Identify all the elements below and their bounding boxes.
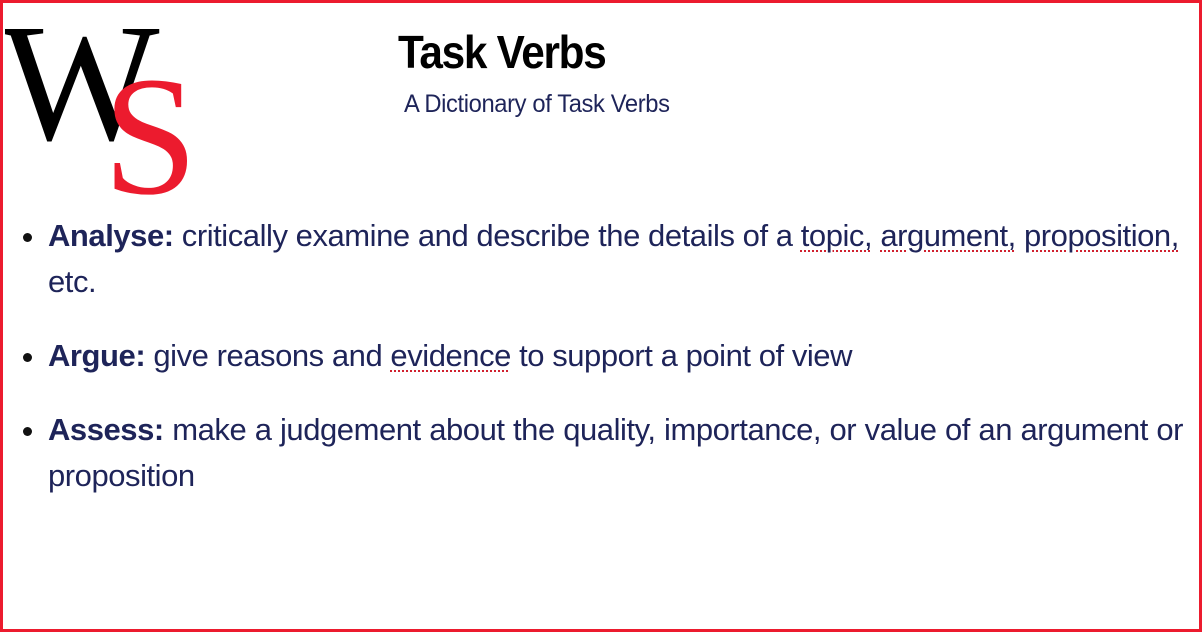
list-item: Argue: give reasons and evidence to supp… [15, 333, 1183, 379]
verb-definition: critically examine and describe the deta… [48, 218, 1179, 299]
misspelled-word: argument, [880, 218, 1016, 253]
list-item: Assess: make a judgement about the quali… [15, 407, 1183, 499]
verb-definition: give reasons and evidence to support a p… [145, 338, 852, 373]
task-verb-list: Analyse: critically examine and describe… [15, 213, 1183, 527]
bullet-icon [23, 353, 32, 362]
svg-text:S: S [103, 42, 195, 196]
title-block: Task Verbs A Dictionary of Task Verbs [398, 27, 684, 119]
slide-canvas: W S Task Verbs A Dictionary of Task Verb… [0, 0, 1202, 632]
slide-header: W S Task Verbs A Dictionary of Task Verb… [3, 3, 1199, 203]
bullet-icon [23, 427, 32, 436]
verb-definition: make a judgement about the quality, impo… [48, 412, 1183, 493]
ws-monogram-logo: W S [5, 11, 195, 196]
verb-term: Argue: [48, 338, 145, 373]
bullet-icon [23, 233, 32, 242]
list-item: Analyse: critically examine and describe… [15, 213, 1183, 305]
page-subtitle: A Dictionary of Task Verbs [404, 89, 670, 119]
misspelled-word: evidence [390, 338, 511, 373]
verb-term: Assess: [48, 412, 164, 447]
misspelled-word: topic, [801, 218, 872, 253]
misspelled-word: proposition, [1024, 218, 1179, 253]
page-title: Task Verbs [398, 27, 661, 77]
verb-term: Analyse: [48, 218, 174, 253]
